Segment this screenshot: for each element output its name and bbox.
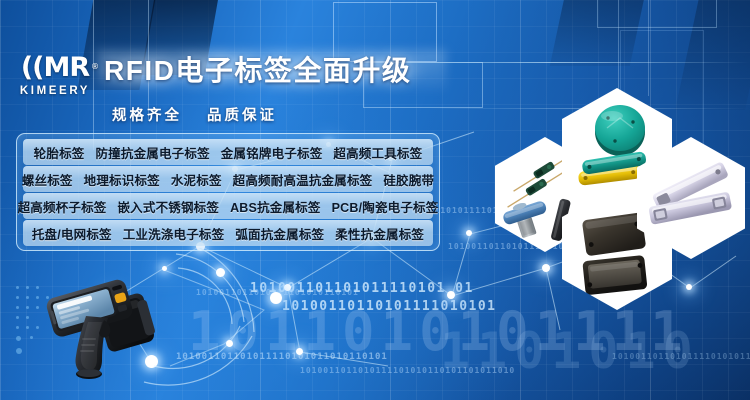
registered-trademark-icon: ® xyxy=(91,51,99,83)
network-node xyxy=(542,264,550,272)
tag-row: 螺丝标签 地理标识标签 水泥标签 超高频耐高温抗金属标签 硅胶腕带 xyxy=(23,166,433,192)
kimeery-logo[interactable]: ((MR ® KIMEERY xyxy=(12,52,98,108)
tag-item[interactable]: 螺丝标签 xyxy=(22,170,73,189)
rf-node xyxy=(216,268,225,277)
tag-item[interactable]: PCB/陶瓷电子标签 xyxy=(332,197,439,216)
tag-item[interactable]: 弧面抗金属标签 xyxy=(235,224,324,243)
rfid-promo-banner: 1010011011010111101010110101 10100110110… xyxy=(0,0,750,400)
tag-item[interactable]: 防撞抗金属电子标签 xyxy=(95,143,209,162)
subtitle-right: 品质保证 xyxy=(207,108,277,124)
network-node xyxy=(686,284,692,290)
tag-item[interactable]: 超高频工具标签 xyxy=(333,143,422,162)
tag-item[interactable]: 金属铭牌电子标签 xyxy=(221,143,323,162)
logo-mark: ((MR ® xyxy=(12,52,98,84)
logo-mark-text: ((MR xyxy=(21,52,89,83)
subtitle-left: 规格齐全 xyxy=(112,108,182,124)
page-title: RFID电子标签全面升级 xyxy=(104,52,454,90)
subtitle: 规格齐全 品质保证 xyxy=(112,104,295,125)
rf-node xyxy=(226,340,233,347)
tag-item[interactable]: 超高频耐高温抗金属标签 xyxy=(233,170,373,189)
tag-item[interactable]: ABS抗金属标签 xyxy=(230,197,321,216)
tag-item[interactable]: 嵌入式不锈钢标签 xyxy=(117,197,219,216)
network-node xyxy=(447,291,455,299)
tag-item[interactable]: 轮胎标签 xyxy=(34,143,85,162)
rf-node xyxy=(270,292,282,304)
tag-item[interactable]: 托盘/电网标签 xyxy=(32,224,112,243)
handheld-uhf-rfid-reader[interactable] xyxy=(42,272,170,380)
product-tag-panel: 轮胎标签 防撞抗金属电子标签 金属铭牌电子标签 超高频工具标签 螺丝标签 地理标… xyxy=(16,133,440,251)
tag-item[interactable]: 柔性抗金属标签 xyxy=(335,224,424,243)
tag-item[interactable]: 工业洗涤电子标签 xyxy=(123,224,225,243)
tag-item[interactable]: 水泥标签 xyxy=(171,170,222,189)
network-node xyxy=(466,230,472,236)
tag-row: 托盘/电网标签 工业洗涤电子标签 弧面抗金属标签 柔性抗金属标签 xyxy=(23,220,433,246)
tag-row: 超高频杯子标签 嵌入式不锈钢标签 ABS抗金属标签 PCB/陶瓷电子标签 xyxy=(23,193,433,219)
tag-item[interactable]: 地理标识标签 xyxy=(84,170,160,189)
tag-item[interactable]: 硅胶腕带 xyxy=(383,170,434,189)
tag-item[interactable]: 超高频杯子标签 xyxy=(18,197,107,216)
logo-wordmark: KIMEERY xyxy=(12,85,98,97)
tag-row: 轮胎标签 防撞抗金属电子标签 金属铭牌电子标签 超高频工具标签 xyxy=(23,139,433,165)
rf-node xyxy=(162,266,167,271)
reader-image xyxy=(42,272,170,380)
